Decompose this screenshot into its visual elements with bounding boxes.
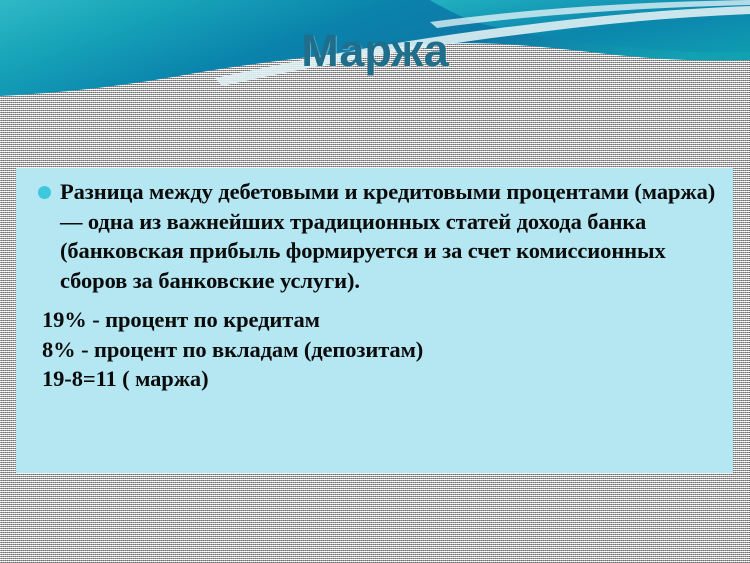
page-title: Маржа (0, 27, 750, 74)
deposit-rate-line: 8% - процент по вкладам (депозитам) (42, 335, 723, 365)
bullet-list-item: Разница между дебетовыми и кредитовыми п… (26, 177, 723, 295)
credit-rate-line: 19% - процент по кредитам (42, 305, 723, 335)
content-panel: Разница между дебетовыми и кредитовыми п… (16, 168, 733, 473)
slide-root: Маржа Разница между дебетовыми и кредито… (0, 0, 750, 563)
bullet-dot-icon (38, 186, 51, 199)
margin-formula-line: 19-8=11 ( маржа) (42, 364, 723, 394)
bullet-paragraph-text: Разница между дебетовыми и кредитовыми п… (60, 177, 723, 295)
